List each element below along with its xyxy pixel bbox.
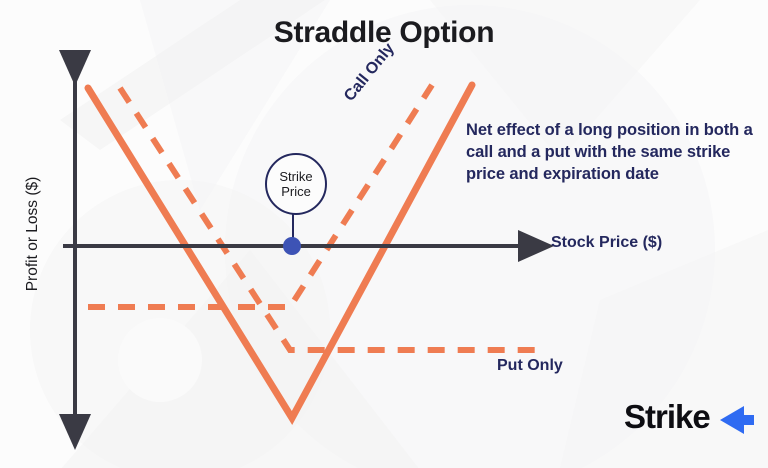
strike-price-line-2: Price	[281, 184, 311, 199]
put-only-label: Put Only	[497, 357, 563, 375]
y-axis-label: Profit or Loss ($)	[24, 139, 42, 329]
strike-price-marker	[283, 208, 301, 255]
x-axis-label: Stock Price ($)	[551, 234, 662, 252]
strike-price-callout: Strike Price	[265, 153, 327, 215]
strike-logo-text: Strike	[624, 398, 710, 436]
strike-price-line-1: Strike	[279, 169, 312, 184]
series-straddle-net	[88, 85, 472, 418]
description-text: Net effect of a long position in both a …	[466, 120, 756, 186]
straddle-option-infographic: Straddle Option Net effect of a long pos…	[0, 0, 768, 468]
strike-logo: Strike	[624, 398, 754, 442]
